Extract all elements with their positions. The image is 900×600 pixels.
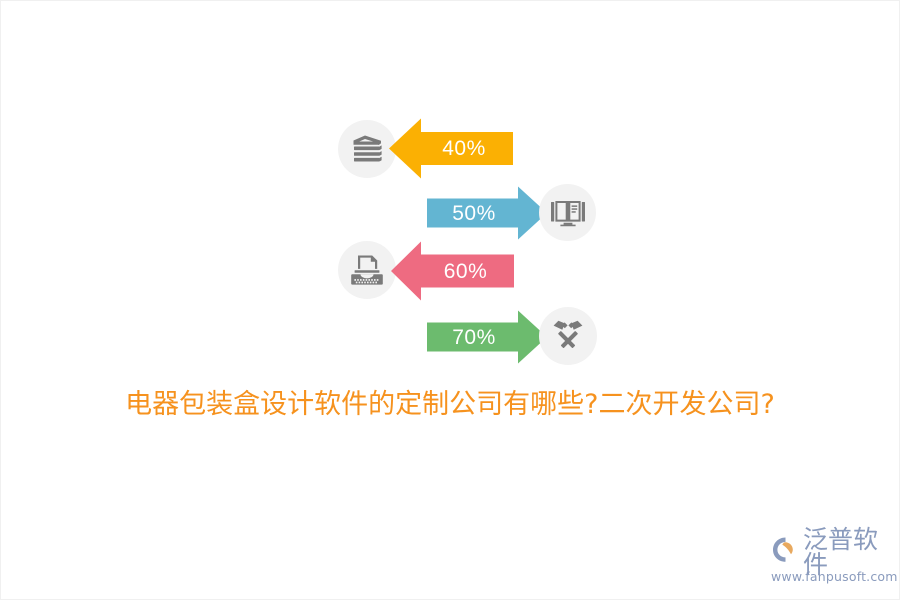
arrow-row-2: 50% (427, 186, 547, 240)
arrow-label-4: 70% (452, 327, 496, 348)
arrow-label-1: 40% (442, 138, 486, 159)
books-stack-icon (350, 133, 384, 165)
crossed-hammers-icon (550, 318, 586, 354)
arrow-label-2: 50% (452, 203, 496, 224)
arrow-row-4: 70% (427, 310, 547, 364)
infographic-canvas: 40% 50% (0, 0, 900, 600)
company-logo: 泛普软件 www.fanpusoft.com (771, 537, 891, 589)
logo-mark-icon (771, 536, 799, 568)
books-stack-icon-circle (338, 120, 396, 178)
arrow-label-3: 60% (444, 261, 488, 282)
page-title: 电器包装盒设计软件的定制公司有哪些?二次开发公司? (1, 385, 899, 425)
arrow-row-3: 60% (391, 241, 514, 301)
open-book-icon (550, 198, 586, 228)
crossed-hammers-icon-circle (539, 307, 597, 365)
logo-url-text: www.fanpusoft.com (771, 569, 891, 584)
arrow-row-1: 40% (389, 118, 513, 179)
typewriter-icon (349, 254, 385, 287)
typewriter-icon-circle (338, 241, 396, 299)
open-book-icon-circle (539, 184, 596, 241)
